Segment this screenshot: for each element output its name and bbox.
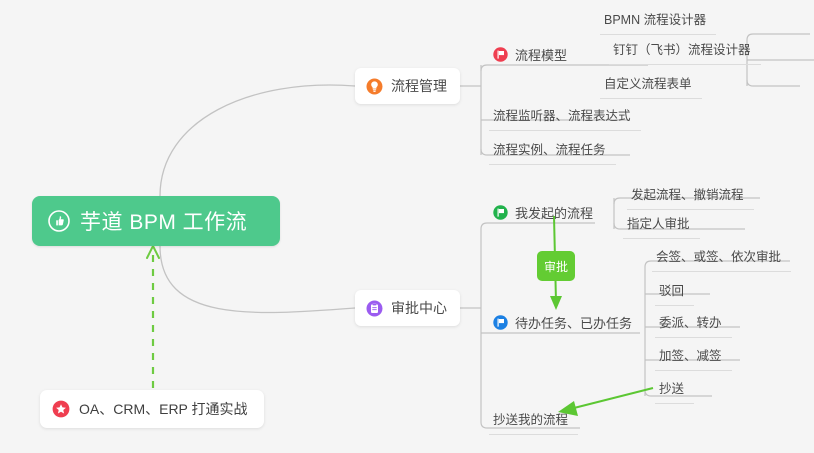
leaf-node[interactable]: 委派、转办	[655, 315, 732, 338]
flag-icon	[493, 205, 508, 220]
root-label: 芋道 BPM 工作流	[80, 206, 247, 236]
sub-label-todo-done-tasks: 待办任务、已办任务	[515, 313, 632, 332]
leaf-node[interactable]: BPMN 流程设计器	[600, 12, 716, 35]
leaf-node[interactable]: 发起流程、撤销流程	[627, 187, 754, 210]
green-arrow-approval-head	[550, 296, 562, 310]
callout-node-integration[interactable]: OA、CRM、ERP 打通实战	[40, 390, 264, 428]
leaf-node[interactable]: 流程监听器、流程表达式	[489, 108, 641, 131]
thumbs-up-icon	[48, 210, 70, 232]
star-badge-icon	[52, 400, 70, 418]
approval-tag-label: 审批	[544, 258, 568, 275]
branch-label-process-management: 流程管理	[391, 76, 447, 96]
mindmap-canvas: 芋道 BPM 工作流 流程管理 流程模型 BPMN 流程设计器 钉钉（飞书）流程…	[0, 0, 814, 453]
flag-icon	[493, 315, 508, 330]
connector-process-trunk-top	[481, 65, 648, 71]
root-node[interactable]: 芋道 BPM 工作流	[32, 196, 280, 246]
leaf-node[interactable]: 抄送	[655, 381, 694, 404]
leaf-node[interactable]: 会签、或签、依次审批	[652, 249, 791, 272]
clipboard-icon	[366, 300, 383, 317]
connector-root-to-approval	[160, 246, 355, 313]
approval-tag[interactable]: 审批	[537, 251, 575, 281]
flag-icon	[493, 47, 508, 62]
green-arrow-cc	[570, 388, 653, 409]
connector-approval-trunk-top	[481, 223, 595, 229]
leaf-node[interactable]: 驳回	[655, 283, 694, 306]
leaf-node[interactable]: 加签、减签	[655, 348, 732, 371]
branch-node-approval-center[interactable]: 审批中心	[355, 290, 460, 326]
callout-label: OA、CRM、ERP 打通实战	[79, 399, 248, 419]
sub-node-my-initiated[interactable]: 我发起的流程	[493, 201, 593, 223]
sub-label-process-model: 流程模型	[515, 45, 567, 64]
dashed-arrow-callout-head	[147, 246, 159, 258]
connector-root-to-process	[160, 85, 355, 196]
leaf-node[interactable]: 自定义流程表单	[600, 76, 702, 99]
lightbulb-icon	[366, 78, 383, 95]
leaf-node[interactable]: 抄送我的流程	[489, 412, 578, 435]
branch-label-approval-center: 审批中心	[391, 298, 447, 318]
sub-label-my-initiated: 我发起的流程	[515, 203, 593, 222]
leaf-node[interactable]: 钉钉（飞书）流程设计器	[609, 42, 761, 65]
connector-model-trunk	[747, 34, 810, 40]
sub-node-process-model[interactable]: 流程模型	[493, 43, 567, 65]
leaf-node[interactable]: 指定人审批	[623, 216, 700, 239]
connector-model-trunk-bottom	[747, 80, 800, 86]
leaf-node[interactable]: 流程实例、流程任务	[489, 142, 616, 165]
sub-node-todo-done-tasks[interactable]: 待办任务、已办任务	[493, 311, 632, 333]
branch-node-process-management[interactable]: 流程管理	[355, 68, 460, 104]
